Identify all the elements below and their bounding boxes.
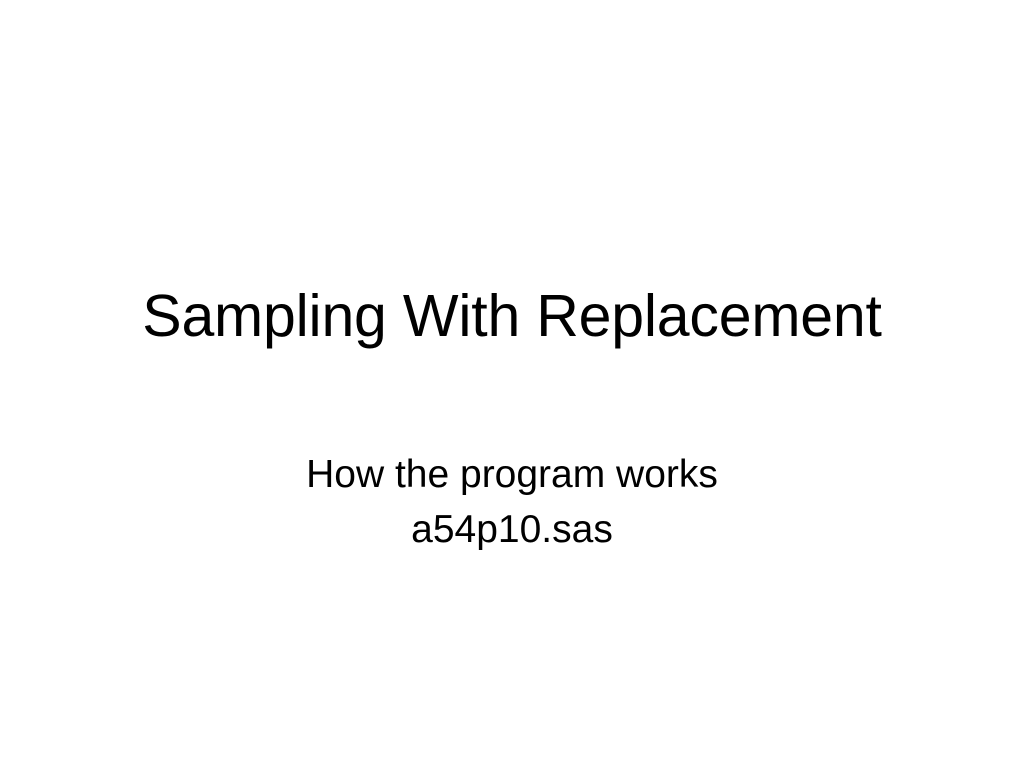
title-slide: Sampling With Replacement How the progra… (0, 0, 1024, 768)
subtitle-placeholder: How the program works a54p10.sas (0, 447, 1024, 557)
subtitle-text: How the program works a54p10.sas (0, 447, 1024, 557)
subtitle-line-1: How the program works (0, 447, 1024, 502)
subtitle-line-2: a54p10.sas (0, 502, 1024, 557)
page-title: Sampling With Replacement (142, 283, 881, 349)
title-placeholder: Sampling With Replacement (0, 283, 1024, 349)
